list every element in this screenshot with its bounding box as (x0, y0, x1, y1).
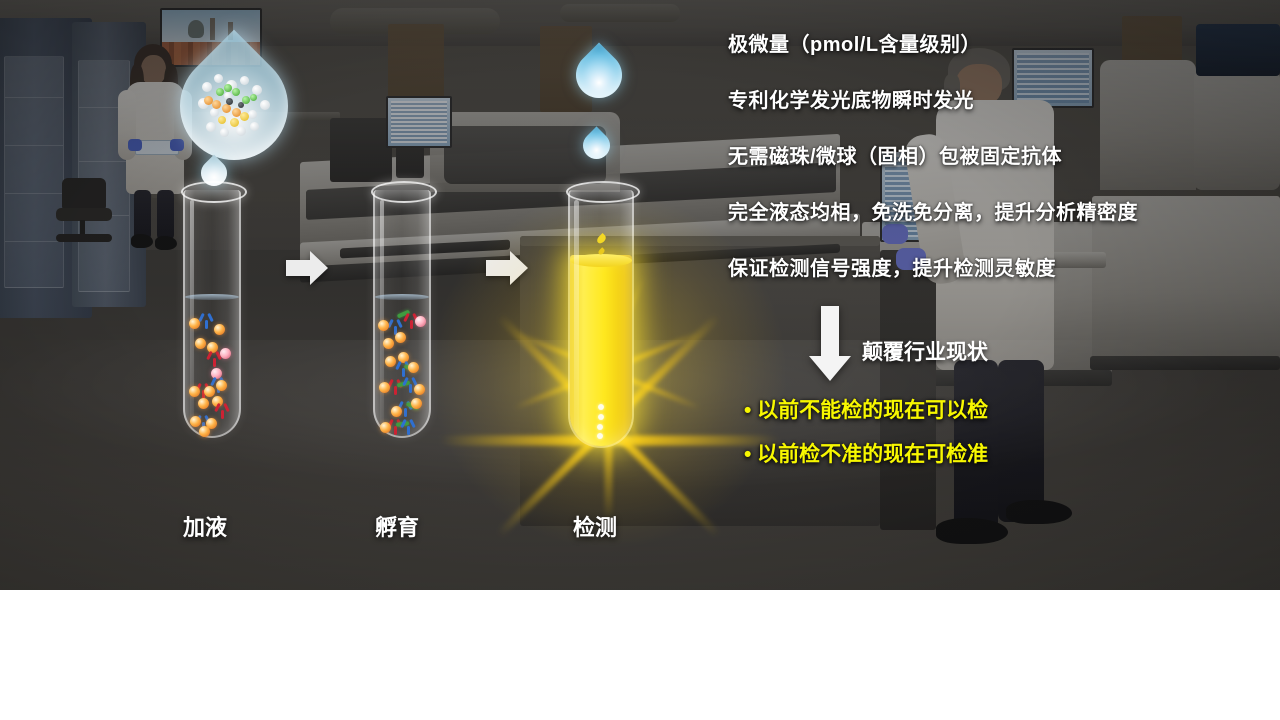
highlight-bullet-1: • 以前不能检的现在可以检 (744, 394, 988, 424)
disrupt-label: 颠覆行业现状 (862, 336, 988, 366)
step-label-incubation: 孵育 (375, 510, 419, 542)
molecule-droplet-icon (180, 52, 288, 160)
highlight-bullet-2: • 以前检不准的现在可检准 (744, 438, 988, 468)
feature-line-4: 完全液态均相，免洗免分离，提升分析精密度 (728, 196, 1138, 225)
slide-bottom-margin (0, 590, 1280, 720)
right-arrow-icon (286, 251, 330, 285)
test-tube-detection (568, 190, 634, 448)
step-label-add-reagent: 加液 (183, 510, 227, 542)
lab-photo-background: 加液 孵育 检测 极微量（pmol/L含量级别） 专利化学发光底物瞬时发光 无需… (0, 0, 1280, 590)
feature-line-2: 专利化学发光底物瞬时发光 (728, 84, 974, 113)
feature-line-3: 无需磁珠/微球（固相）包被固定抗体 (728, 140, 1062, 169)
step-label-detection: 检测 (573, 510, 617, 542)
slide-canvas: 加液 孵育 检测 极微量（pmol/L含量级别） 专利化学发光底物瞬时发光 无需… (0, 0, 1280, 720)
feature-line-5: 保证检测信号强度，提升检测灵敏度 (728, 252, 1056, 281)
right-arrow-icon (486, 251, 530, 285)
feature-line-1: 极微量（pmol/L含量级别） (728, 28, 981, 57)
test-tube-add-reagent (183, 190, 241, 438)
down-arrow-icon (809, 306, 851, 382)
test-tube-incubation (373, 190, 431, 438)
